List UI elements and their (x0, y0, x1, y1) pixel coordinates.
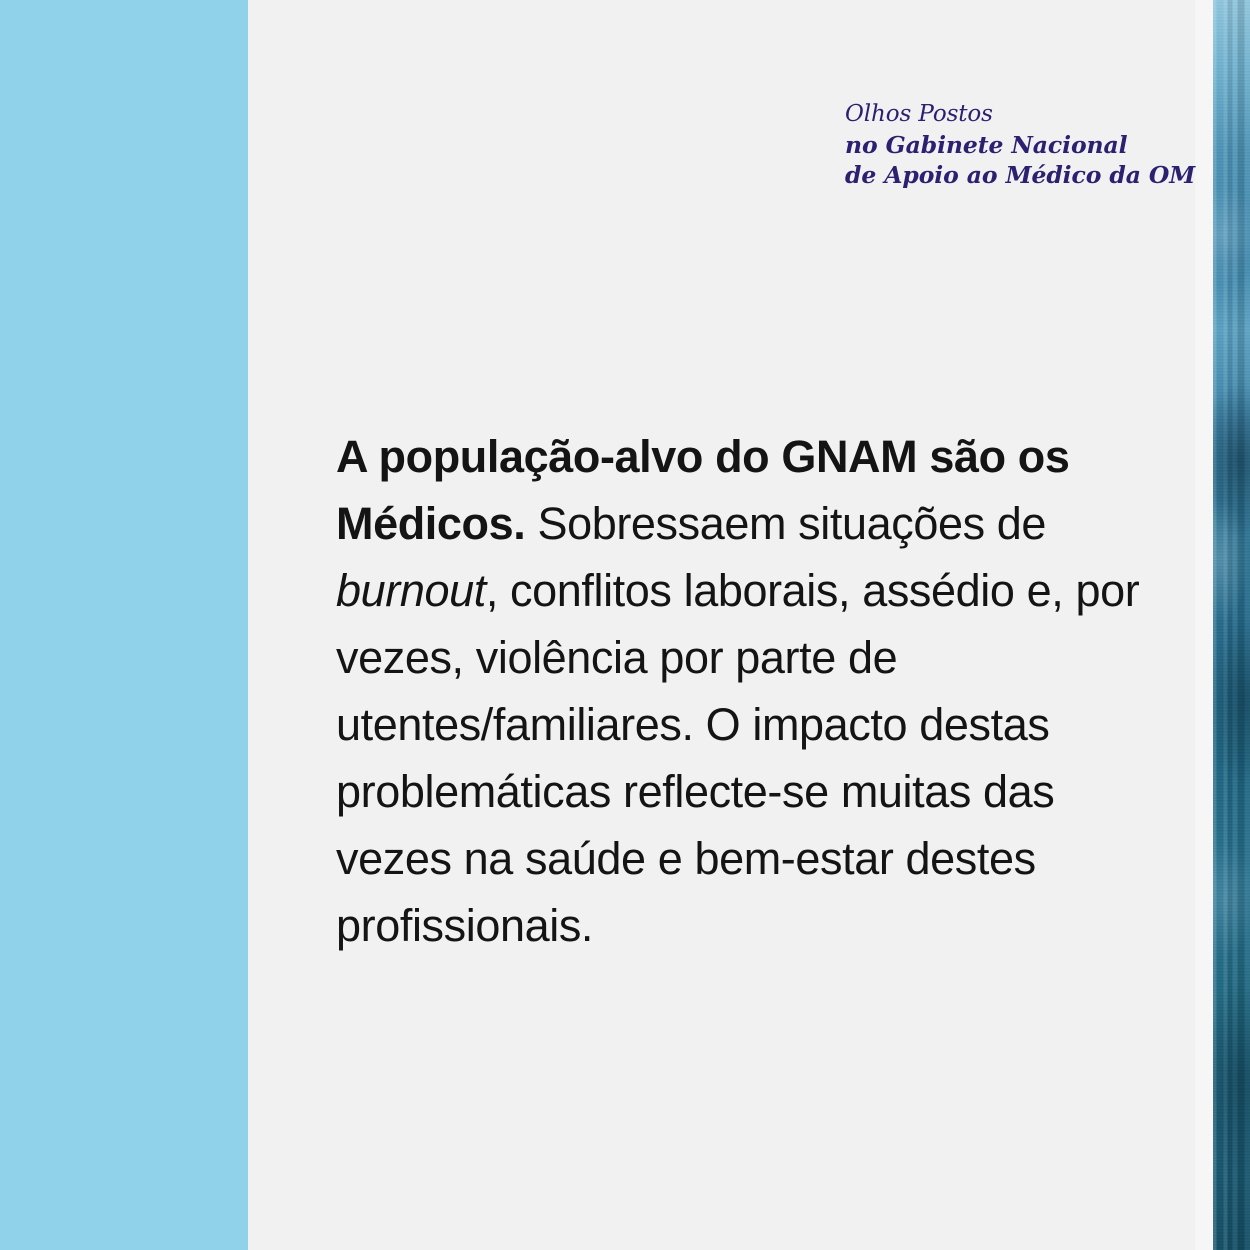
body-text-before-term: Sobressaem situações de (525, 498, 1046, 549)
body-italic-term: burnout (336, 565, 486, 616)
kicker-line-2: no Gabinete Nacional (845, 130, 1205, 161)
photo-grain-texture (1213, 0, 1250, 1250)
kicker-line-3: de Apoio ao Médico da OM (845, 160, 1205, 191)
body-text-after-term: , conflitos laborais, assédio e, por vez… (336, 565, 1139, 951)
left-blue-band (0, 0, 248, 1250)
header-kicker: Olhos Postos no Gabinete Nacional de Apo… (845, 100, 1205, 191)
body-paragraph: A população-alvo do GNAM são os Médicos.… (336, 423, 1166, 959)
kicker-line-1: Olhos Postos (845, 100, 1205, 130)
right-edge-photo (1213, 0, 1250, 1250)
poster-card: Olhos Postos no Gabinete Nacional de Apo… (0, 0, 1250, 1250)
